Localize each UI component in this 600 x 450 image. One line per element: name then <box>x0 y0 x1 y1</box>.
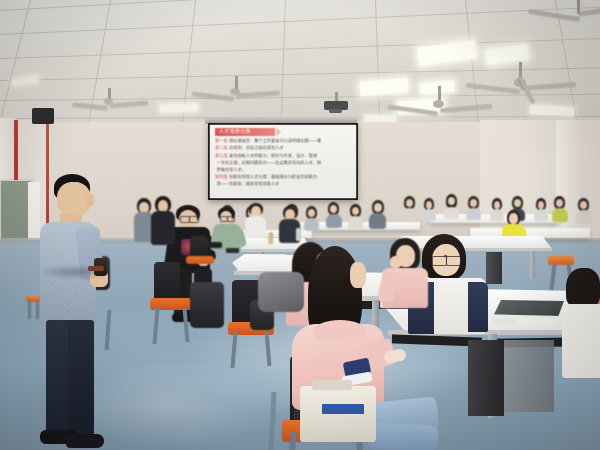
chevron-right-icon <box>276 128 281 136</box>
slide-line: 第二类 应用型：实际工程应用型人才 <box>215 145 351 150</box>
slide-line-text: 得——技能型、服务型型技能人才 <box>217 181 280 186</box>
classroom-photo: 人才培养分类 第一类 理论基础型：整个工作基本可以说明理论题——事 第二类 应用… <box>0 0 600 450</box>
slide-line: 第一类 理论基础型：整个工作基本可以说明理论题——事 <box>215 138 351 143</box>
notebook <box>520 316 554 326</box>
slide-line-key: 第三类 <box>215 153 228 158</box>
shadow <box>36 264 116 280</box>
water-bottle <box>268 232 273 244</box>
shoe <box>66 434 104 448</box>
slide-line-text: 技能实用型人才分类：基础理论与职业实践能力 <box>229 174 317 179</box>
tote-bag <box>300 386 376 442</box>
ceiling-light-panel <box>160 103 198 112</box>
backpack <box>258 272 304 312</box>
slide-line: 得——技能型、服务型型技能人才 <box>215 181 351 186</box>
slide-line-key: 第一类 <box>215 138 228 143</box>
slide-line: 界融合型人才。 <box>215 167 351 172</box>
slide-line-text: 复合创新人才的能力，研究与开发、设计、管理 <box>229 153 317 158</box>
slide-line-key: 第二类 <box>215 145 228 150</box>
slide-line: 第四类 技能实用型人才分类：基础理论与职业实践能力 <box>215 174 351 179</box>
slide-content: 人才培养分类 第一类 理论基础型：整个工作基本可以说明理论题——事 第二类 应用… <box>210 125 356 198</box>
desk-accessory <box>206 242 222 248</box>
projection-screen: 人才培养分类 第一类 理论基础型：整个工作基本可以说明理论题——事 第二类 应用… <box>208 123 358 200</box>
slide-line-text: 一专向三理，近期问题导向——社会需求导向的人才、跨 <box>217 160 322 165</box>
slide-line-text: 界融合型人才。 <box>217 167 246 172</box>
slide-line: 第三类 复合创新人才的能力，研究与开发、设计、管理 <box>215 153 351 158</box>
slide-line-key: 第四类 <box>215 174 228 179</box>
slide-title-row: 人才培养分类 <box>215 128 351 136</box>
backpack <box>190 282 224 328</box>
paper-sheet <box>492 318 516 325</box>
slide-line-text: 应用型：实际工程应用型人才 <box>229 145 283 150</box>
tote-bag-handle <box>312 380 352 390</box>
slide-line: 一专向三理，近期问题导向——社会需求导向的人才、跨 <box>215 160 351 165</box>
slide-title: 人才培养分类 <box>215 128 275 136</box>
water-bottle <box>296 228 301 241</box>
wall-speaker <box>32 108 54 124</box>
tote-bag-label <box>322 404 364 414</box>
ceiling-tile-grid <box>0 0 600 136</box>
smartphone <box>226 248 239 253</box>
slide-line-text: 理论基础型：整个工作基本可以说明理论题——事 <box>229 138 321 143</box>
